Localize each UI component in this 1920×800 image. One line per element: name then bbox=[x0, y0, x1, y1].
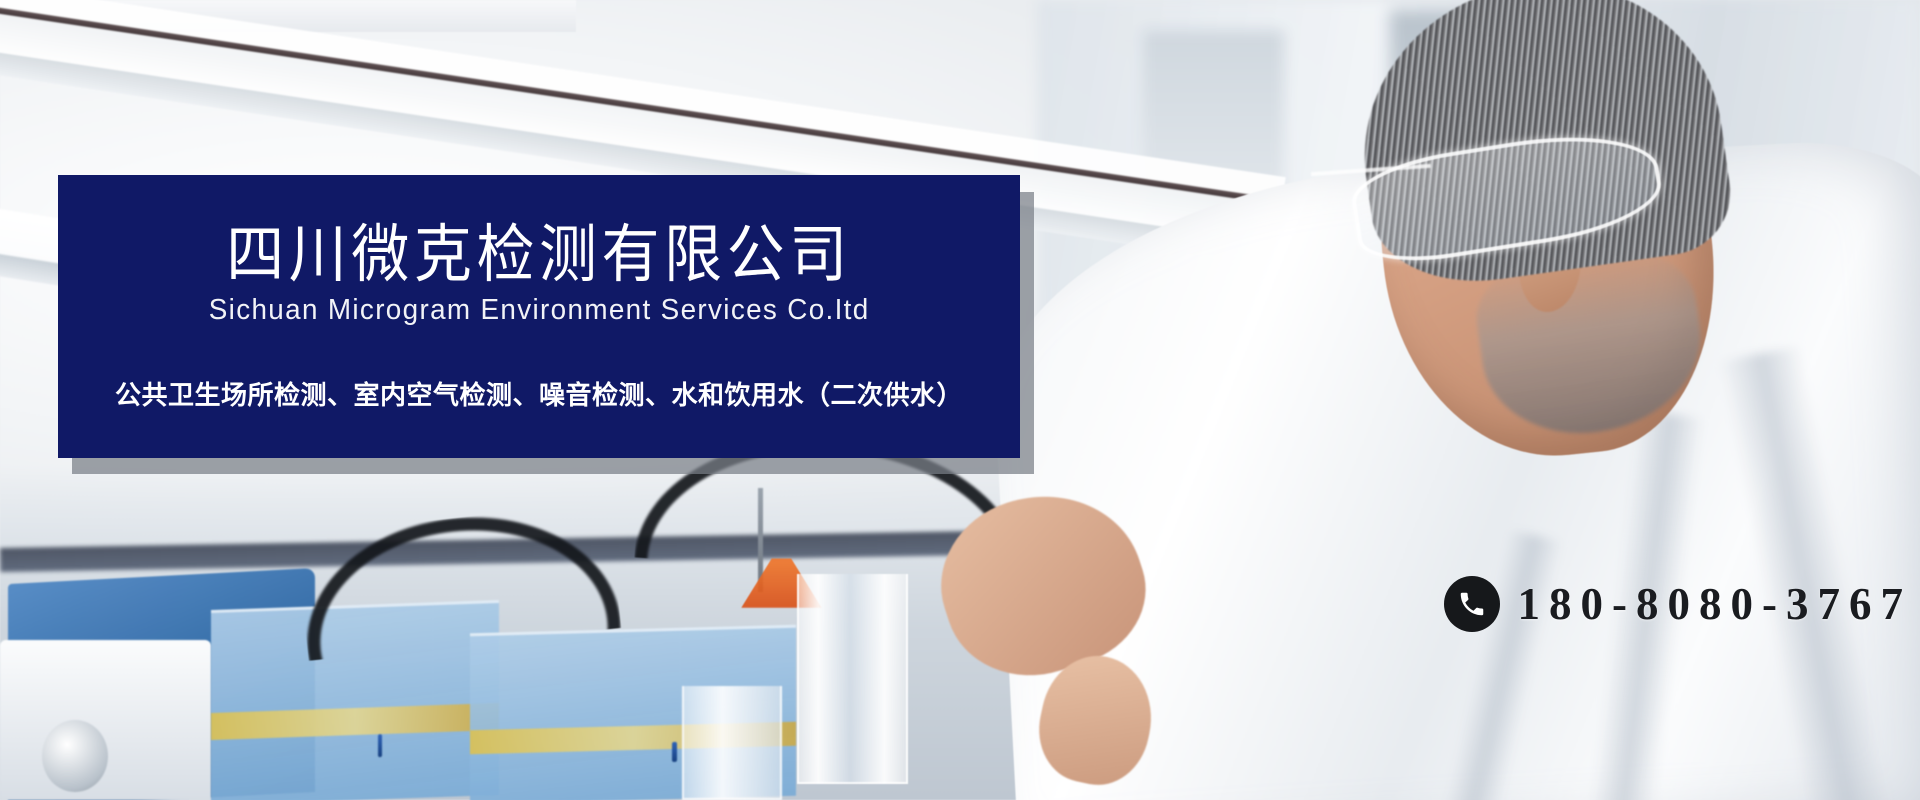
phone-icon bbox=[1444, 576, 1500, 632]
title-card: 四川微克检测有限公司 Sichuan Microgram Environment… bbox=[58, 175, 1020, 458]
tray-clip bbox=[673, 742, 678, 762]
coat-fold bbox=[1436, 528, 1563, 800]
glass-beaker-large bbox=[797, 574, 909, 784]
instrument-dial bbox=[42, 720, 107, 792]
tray-stripe bbox=[211, 703, 499, 740]
services-list: 公共卫生场所检测、室内空气检测、噪音检测、水和饮用水（二次供水） bbox=[115, 375, 963, 412]
tray-clip bbox=[378, 734, 382, 757]
glass-beaker-small bbox=[682, 686, 782, 800]
company-name-cn: 四川微克检测有限公司 bbox=[226, 221, 852, 289]
company-name-en: Sichuan Microgram Environment Services C… bbox=[209, 294, 870, 327]
coat-fold bbox=[1718, 346, 1895, 800]
white-instrument bbox=[0, 640, 211, 800]
phone-number[interactable]: 180-8080-3767 bbox=[1518, 578, 1912, 630]
scientist-figure bbox=[922, 0, 1920, 800]
contact-phone[interactable]: 180-8080-3767 bbox=[1444, 576, 1912, 632]
hero-banner: 四川微克检测有限公司 Sichuan Microgram Environment… bbox=[0, 0, 1920, 800]
